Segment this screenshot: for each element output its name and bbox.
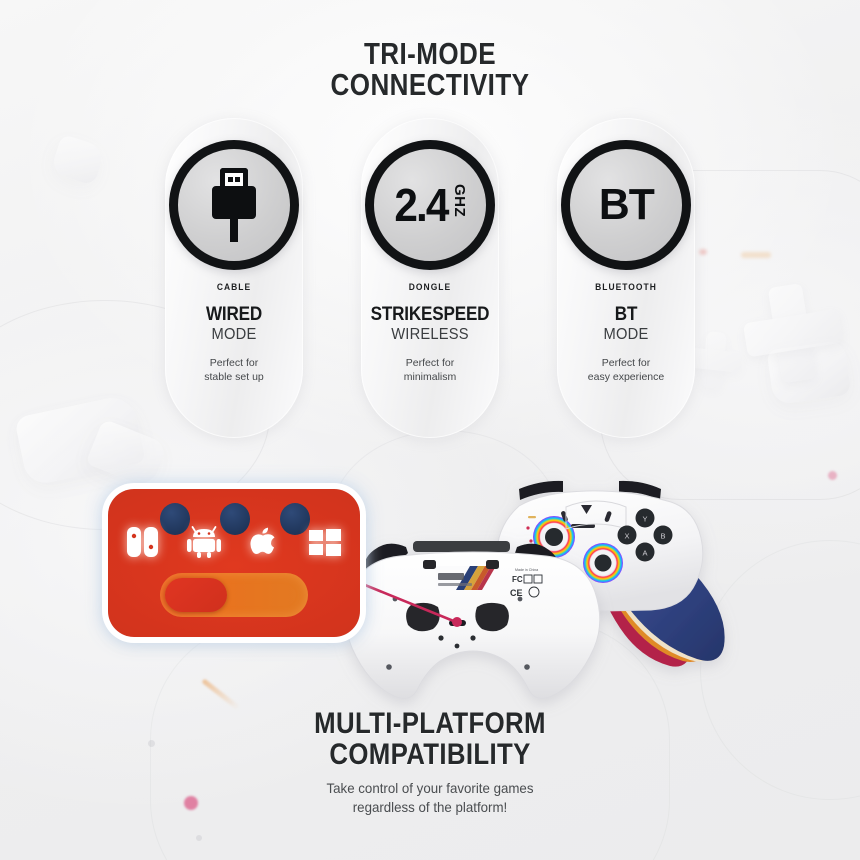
back-button-right[interactable] — [475, 603, 509, 631]
button-b-label: B — [660, 532, 665, 541]
right-analog-stick[interactable] — [595, 555, 612, 572]
apple-icon — [243, 525, 285, 559]
led-indicator — [526, 526, 529, 529]
android-icon — [183, 525, 225, 559]
nintendo-switch-icon — [122, 525, 164, 559]
platform-icon-row — [122, 519, 346, 565]
rear-paddle-left[interactable] — [423, 560, 436, 569]
footer-description-line2: regardless of the platform! — [353, 799, 508, 815]
left-analog-stick[interactable] — [545, 528, 563, 546]
screw — [470, 635, 475, 640]
button-y-label: Y — [642, 515, 647, 524]
screw — [524, 664, 530, 670]
footer-block: MULTI-PLATFORM COMPATIBILITY Take contro… — [0, 708, 860, 817]
pointer-dot — [452, 617, 462, 627]
screw — [455, 644, 460, 649]
led-indicator — [529, 539, 532, 542]
platform-callout-panel[interactable] — [108, 489, 360, 637]
product-label — [436, 566, 500, 590]
windows-icon — [304, 525, 346, 559]
ce-mark: CE — [510, 588, 523, 598]
footer-title-line2: COMPATIBILITY — [60, 739, 800, 770]
rear-paddle-right[interactable] — [486, 560, 499, 569]
screw — [386, 664, 392, 670]
fcc-mark: FC — [512, 575, 523, 584]
mode-toggle-knob[interactable] — [165, 578, 227, 612]
footer-description-line1: Take control of your favorite games — [326, 780, 533, 796]
footer-title-line1: MULTI-PLATFORM — [60, 708, 800, 739]
controller-top-rail — [413, 541, 510, 552]
origin-text: Made in China — [515, 568, 538, 572]
button-a-label: A — [642, 549, 647, 558]
mode-toggle-switch[interactable] — [160, 573, 308, 617]
button-x-label: X — [624, 532, 629, 541]
footer-description: Take control of your favorite games rega… — [22, 779, 839, 817]
led-indicator — [528, 516, 536, 518]
screw — [518, 597, 523, 602]
screw — [438, 635, 443, 640]
controller-back-view: Made in China FC CE — [346, 541, 600, 698]
